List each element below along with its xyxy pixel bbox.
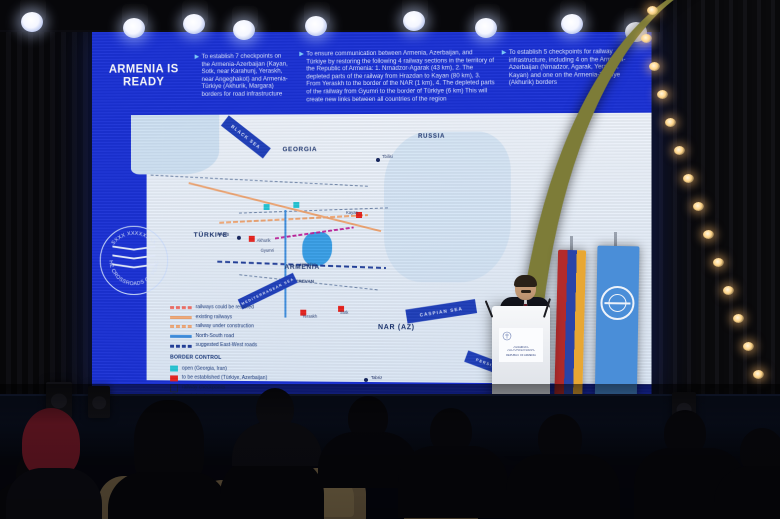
city-dot-tbilisi — [376, 158, 380, 162]
podium-text-line2: REPUBLIC OF ARMENIA — [500, 354, 542, 357]
checkpoint-open-georgia — [264, 204, 270, 210]
black-sea-water — [131, 115, 219, 175]
arch-bulb — [657, 90, 668, 99]
arch-bulb — [683, 174, 694, 183]
checkpoint-akhurik — [249, 236, 255, 242]
legend-key-railways-restored-icon — [170, 306, 192, 309]
map-label-nar-az: NAR (AZ) — [378, 324, 415, 331]
bullet-marker-icon: ▶ — [299, 51, 304, 59]
stage-light — [178, 0, 212, 34]
legend-key-north-south-road-icon — [170, 335, 192, 338]
arch-bulb — [743, 342, 754, 351]
legend-label: existing railways — [196, 313, 233, 323]
caspian-sea-arrow: CASPIAN SEA — [405, 299, 477, 324]
mediterranean-sea-arrow-label: MEDITERRANEAN SEA — [241, 277, 295, 306]
city-label-sotk: Sotk — [340, 310, 348, 315]
map-label-russia: RUSSIA — [418, 134, 445, 140]
stage-light — [470, 4, 504, 38]
legend-key-new-border-icon — [170, 375, 178, 381]
svg-text:SXXX XXXXXXXX: SXXX XXXXXXXX — [111, 231, 158, 247]
stage-light — [228, 6, 262, 40]
city-label-akhurik: Akhurik — [257, 238, 271, 243]
audience — [0, 384, 780, 519]
city-dot-tabriz — [364, 378, 368, 382]
slide-bullet-1: ▶ To establish 7 checkpoints on the Arme… — [202, 53, 291, 99]
legend-label: railway under construction — [196, 322, 254, 332]
arch-bulb — [649, 62, 660, 71]
city-label-hrazdan: Hrazdan — [300, 262, 316, 267]
city-label-tbilisi: Tbilisi — [382, 154, 393, 159]
crossroads-of-peace-emblem: SXXX XXXXXXXX THE CROSSROADS OF PEACE — [100, 226, 168, 295]
un-emblem-icon — [600, 286, 635, 321]
arch-bulb — [641, 34, 652, 43]
stage-light — [398, 0, 432, 31]
city-dot-kars — [237, 236, 241, 240]
black-sea-arrow: BLACK SEA — [221, 115, 271, 158]
speaker-hair — [514, 275, 537, 287]
stage-light — [16, 0, 50, 32]
audience-shadow-overlay — [0, 384, 780, 519]
bullet-marker-icon: ▶ — [502, 50, 507, 58]
legend-label: suggested East-West roads — [196, 341, 258, 351]
arch-bulb — [753, 370, 764, 379]
map-label-georgia: GEORGIA — [282, 146, 317, 153]
checkpoint-open-iran — [293, 202, 299, 208]
arch-bulb — [723, 286, 734, 295]
conference-hall-scene: ARMENIA IS READY ▶ To establish 7 checkp… — [0, 0, 780, 519]
arch-bulb — [693, 202, 704, 211]
legend-label: railways could be restored — [196, 303, 254, 313]
legend-key-existing-railways-icon — [170, 316, 192, 319]
podium-text-line1: ՀԱՅԱՕԶԵՆ ՀԱՆՐԱՊԵՏՈՒԹՅՈՒՆ — [500, 346, 542, 353]
arch-bulb — [733, 314, 744, 323]
podium-emblem-icon — [501, 331, 513, 341]
caspian-sea-water — [384, 131, 511, 282]
slide-bullet-2-text: To ensure communication between Armenia,… — [306, 49, 494, 103]
city-label-tabriz: Tabriz — [371, 375, 382, 380]
legend-key-railway-under-construction-icon — [170, 325, 192, 328]
slide-bullet-1-text: To establish 7 checkpoints on the Armeni… — [202, 53, 291, 99]
slide-title: ARMENIA IS READY — [106, 63, 182, 89]
black-sea-arrow-label: BLACK SEA — [230, 124, 262, 150]
speaker-moustache — [521, 290, 531, 293]
stage-light — [118, 4, 152, 38]
arch-bulb — [665, 118, 676, 127]
city-label-gyumri: Gyumri — [261, 248, 274, 253]
bullet-marker-icon: ▶ — [195, 54, 200, 62]
legend-label: open (Georgia, Iran) — [182, 364, 227, 374]
stage-light — [300, 2, 334, 36]
arch-bulb — [713, 258, 724, 267]
arch-bulb — [703, 230, 714, 239]
arch-bulb — [647, 6, 658, 15]
legend-item: suggested East-West roads — [170, 341, 318, 352]
caspian-sea-arrow-label: CASPIAN SEA — [419, 306, 463, 318]
legend-key-east-west-roads-icon — [170, 344, 192, 347]
city-label-kayan: Kayan — [346, 210, 358, 215]
arch-bulb — [674, 146, 685, 155]
legend-label: North-South road — [196, 332, 234, 342]
slide-bullet-2: ▶ To ensure communication between Armeni… — [306, 49, 494, 103]
legend-key-open-border-icon — [170, 366, 178, 372]
border-georgia-turkiye — [151, 175, 368, 187]
city-label-kars: KARS — [217, 232, 229, 237]
legend-border-control-title: BORDER CONTROL — [170, 354, 318, 365]
lake-sevan — [302, 232, 332, 266]
emblem-chevron-icon — [112, 246, 155, 276]
